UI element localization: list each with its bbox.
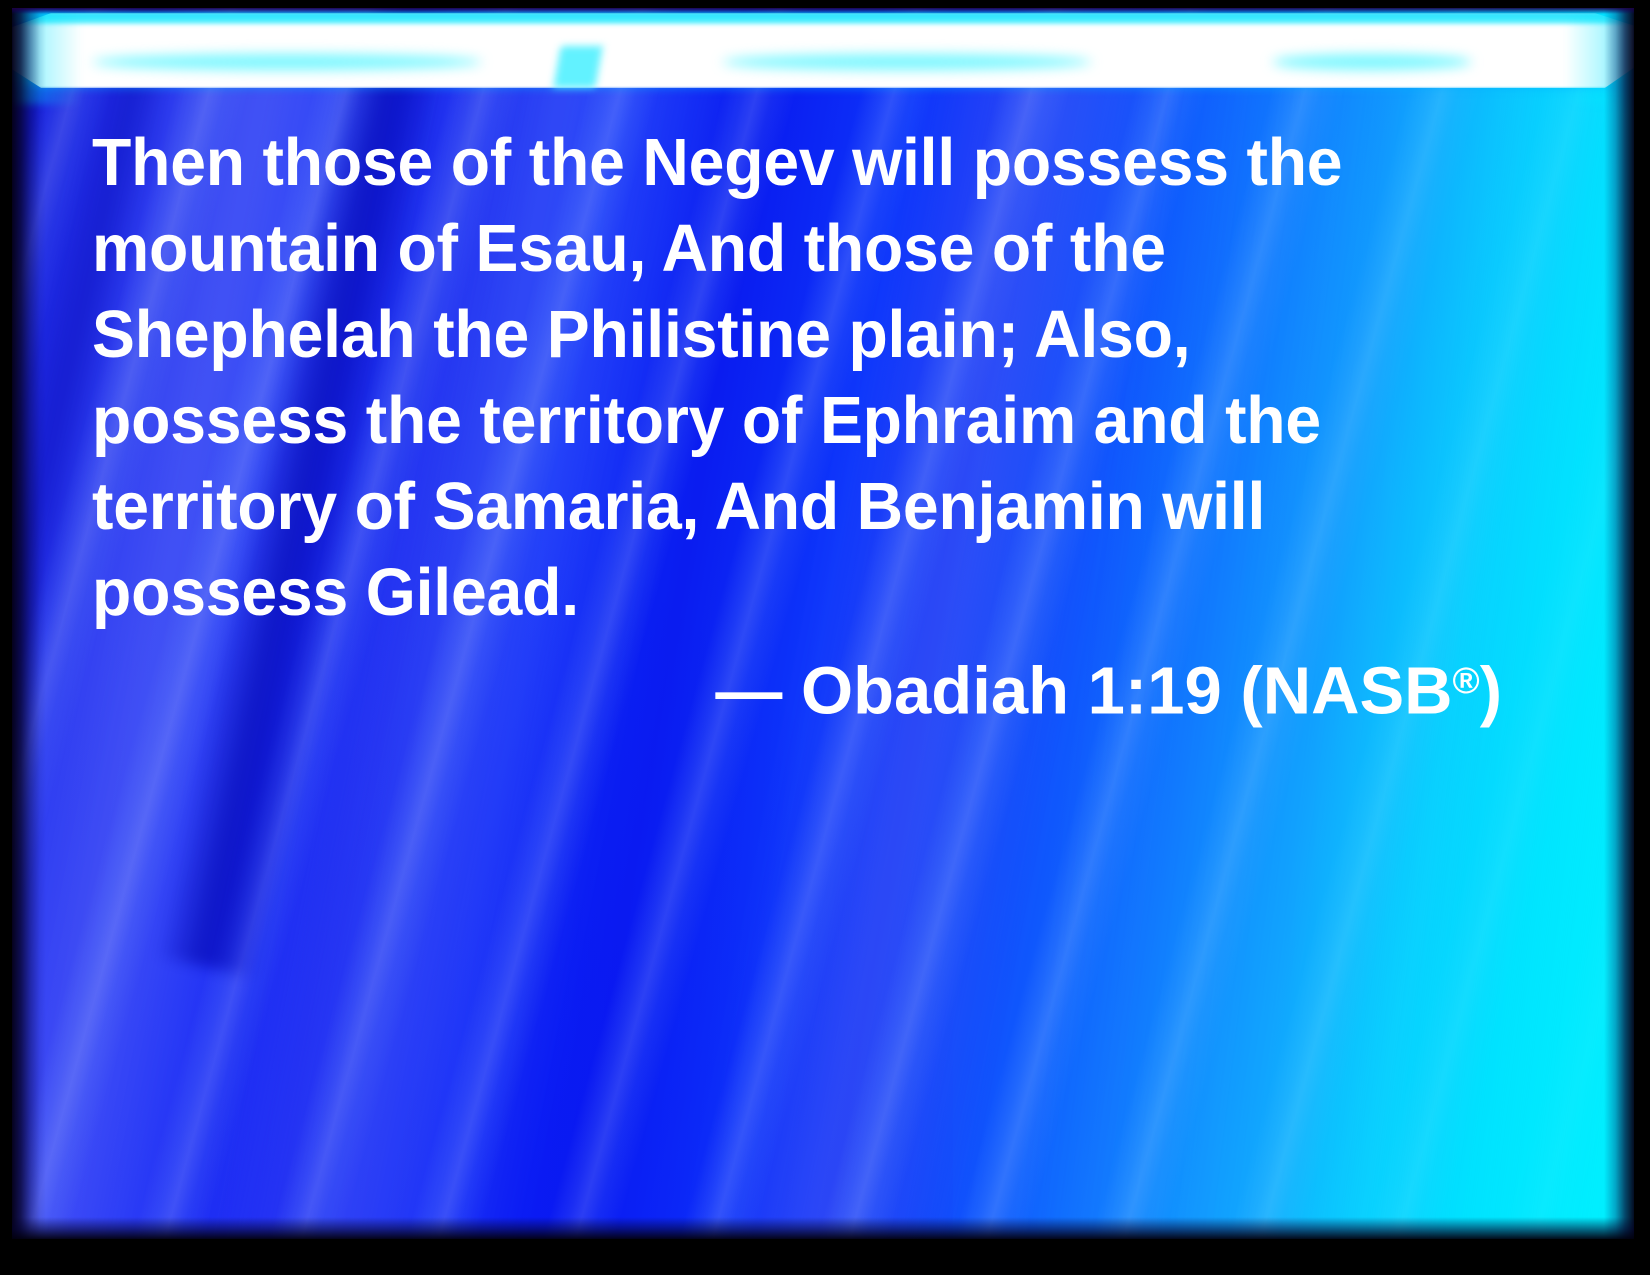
verse-line-3: Shephelah the Philistine plain; Also, bbox=[92, 292, 1455, 378]
frame-border-right bbox=[1634, 0, 1650, 1275]
bible-verse-slide: Then those of the Negev will possess the… bbox=[0, 0, 1650, 1275]
attribution-reference: 1:19 bbox=[1088, 653, 1222, 728]
verse-line-6: possess Gilead. bbox=[92, 550, 1455, 636]
glow-notch bbox=[553, 46, 602, 88]
verse-line-5: territory of Samaria, And Benjamin will bbox=[92, 464, 1455, 550]
frame-border-top bbox=[0, 0, 1650, 8]
attribution-translation: NASB bbox=[1263, 653, 1453, 728]
glow-wisp-left bbox=[92, 54, 482, 70]
attribution-book: Obadiah bbox=[801, 653, 1069, 728]
verse-line-2: mountain of Esau, And those of the bbox=[92, 206, 1455, 292]
verse-line-4: possess the territory of Ephraim and the bbox=[92, 378, 1455, 464]
frame-border-bottom bbox=[0, 1239, 1650, 1275]
top-glow-band bbox=[12, 8, 1634, 104]
inner-vignette-right bbox=[1604, 8, 1634, 1239]
glow-wisp-center bbox=[722, 54, 1092, 70]
attribution-close-paren: ) bbox=[1480, 653, 1502, 728]
verse-line-1: Then those of the Negev will possess the bbox=[92, 120, 1455, 206]
inner-vignette-bottom bbox=[12, 1217, 1634, 1239]
attribution-open-paren: ( bbox=[1240, 653, 1262, 728]
inner-hairline-top bbox=[0, 8, 1650, 14]
registered-trademark-icon: ® bbox=[1453, 660, 1480, 701]
frame-border-left bbox=[0, 0, 12, 1275]
glow-wisp-right bbox=[1272, 54, 1472, 70]
verse-text-block: Then those of the Negev will possess the… bbox=[92, 120, 1512, 636]
attribution-dash: — bbox=[715, 653, 782, 728]
background-stage: Then those of the Negev will possess the… bbox=[12, 8, 1634, 1239]
inner-vignette-left bbox=[12, 8, 46, 1239]
verse-attribution: — Obadiah 1:19 (NASB®) bbox=[92, 638, 1502, 734]
